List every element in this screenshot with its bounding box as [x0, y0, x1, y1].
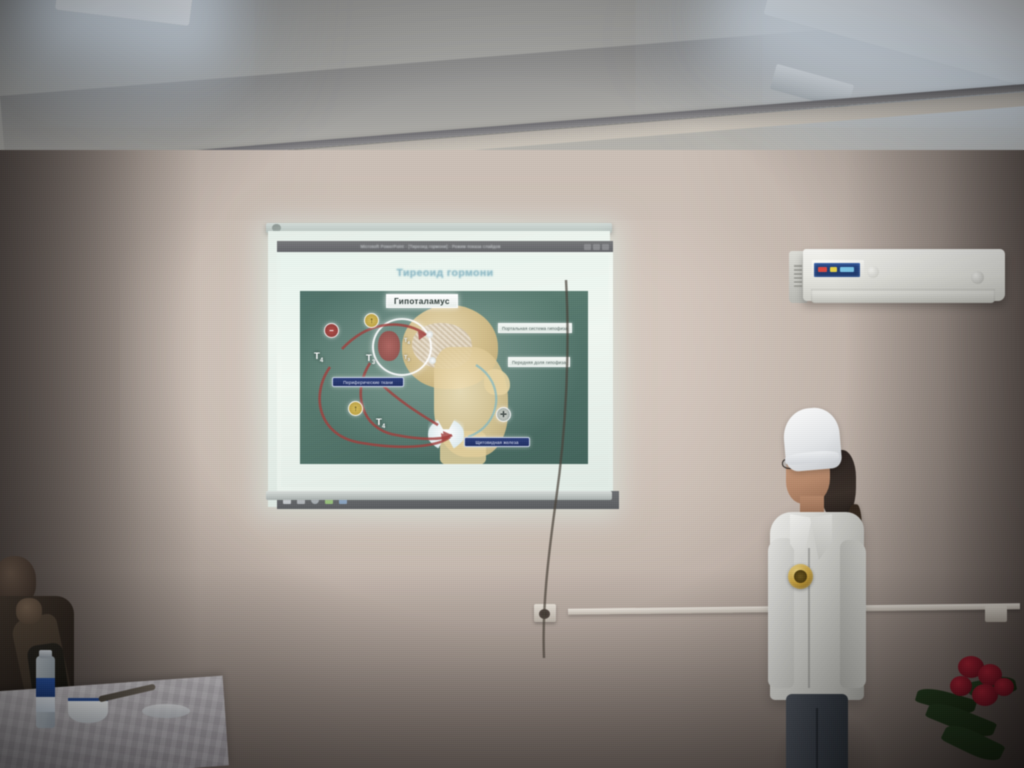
presenter-emblem-center [794, 570, 807, 583]
stimulation-plus-icon: ↑ [364, 313, 379, 328]
seated-attendee-area [0, 552, 222, 768]
thyroid-axis-diagram: T4 T3 [300, 291, 588, 464]
flower-bloom-5 [994, 678, 1014, 696]
inhibition-minus-icon: – [324, 323, 339, 338]
app-title-text: Microsoft PowerPoint - [Тиреоид гормони]… [277, 244, 584, 249]
screen-bottom-bar [266, 491, 612, 500]
close-icon[interactable] [602, 244, 609, 250]
slide-title: Тиреоид гормони [281, 267, 609, 279]
anterior-pituitary-label: Передняя доля гипофиза [508, 357, 570, 367]
water-bottle-label [36, 678, 55, 712]
flower-bloom-3 [950, 676, 972, 696]
ac-louver-vent [811, 289, 995, 303]
peripheral-tissue-label: Периферические ткани [332, 377, 404, 387]
flower-arrangement [916, 648, 1024, 768]
wall-air-conditioner [789, 249, 1005, 315]
seated-attendee-hand [16, 598, 42, 624]
lecture-room-photo: Microsoft PowerPoint - [Тиреоид гормони]… [0, 0, 1024, 768]
ac-led-red [818, 267, 827, 272]
presenter-arm-right [840, 540, 866, 688]
plate[interactable] [142, 704, 190, 718]
wall-outlet-socket[interactable] [539, 609, 550, 619]
minimize-icon[interactable] [584, 244, 591, 250]
stimulation-plus-icon-3: ✛ [496, 407, 511, 422]
presenter-trouser-seam [816, 708, 818, 768]
projection-screen: Microsoft PowerPoint - [Тиреоид гормони]… [262, 223, 614, 519]
ac-power-knob[interactable] [971, 271, 984, 284]
hormone-label-t4-bottom: T4 [376, 417, 385, 430]
thyroid-gland-label: Щитовидная железа [464, 437, 530, 447]
tablecloth-pattern [0, 676, 229, 768]
screen-surface: Microsoft PowerPoint - [Тиреоид гормони]… [268, 231, 610, 507]
water-bottle-cap[interactable] [39, 650, 52, 658]
ac-led-yellow [830, 267, 837, 272]
ac-sensor-icon [867, 266, 879, 278]
ac-display [814, 263, 860, 277]
stimulation-plus-icon-2: ↑ [348, 401, 363, 416]
wall-outlet-right[interactable] [985, 606, 1007, 622]
portal-system-label: Портальная система гипофиза [498, 323, 572, 333]
presenter-standing [752, 408, 902, 768]
window-controls[interactable] [584, 244, 613, 250]
slide: Тиреоид гормони [281, 255, 609, 487]
slide-canvas[interactable]: Тиреоид гормони [277, 252, 613, 491]
restore-icon[interactable] [593, 244, 600, 250]
presenter-arm-left [768, 538, 794, 688]
ac-side-vent [794, 265, 802, 287]
hypothalamus-label: Гипоталамус [386, 294, 458, 308]
hormone-label-t4-left: T4 [314, 351, 323, 364]
ac-led-blue [840, 267, 854, 272]
app-titlebar: Microsoft PowerPoint - [Тиреоид гормони]… [277, 241, 613, 252]
hormone-label-t3-left: T3 [366, 353, 375, 366]
